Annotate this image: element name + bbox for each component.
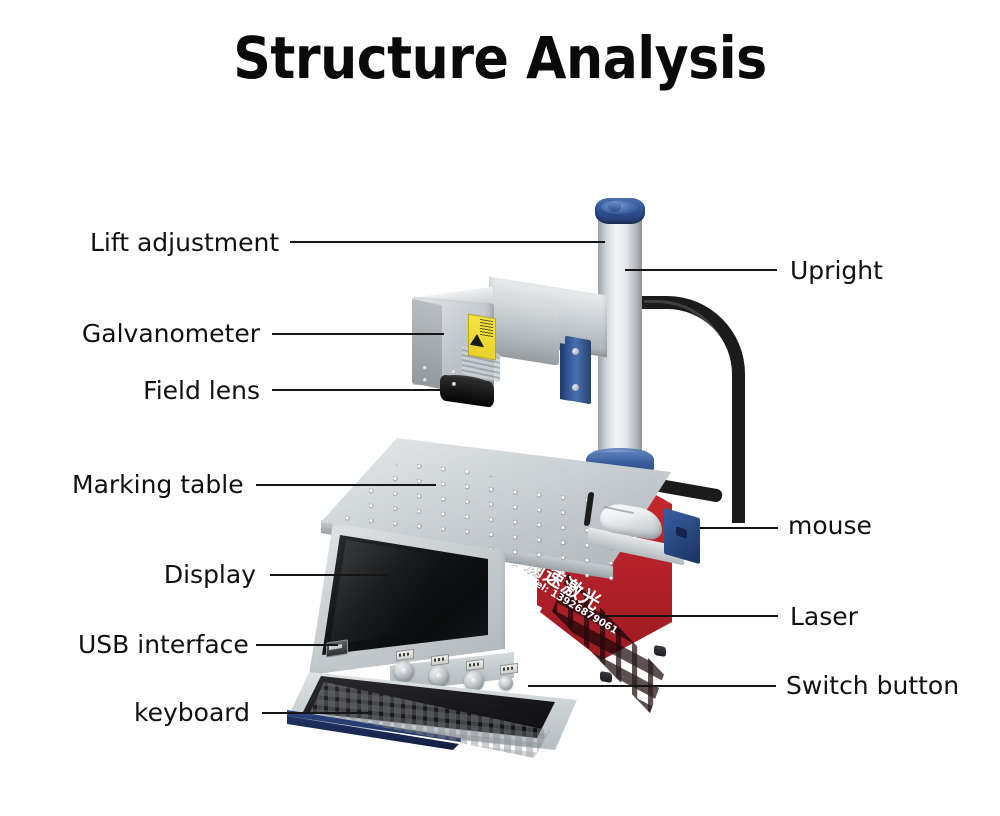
switch-button-small[interactable]	[499, 676, 513, 690]
hazard-triangle-icon	[470, 333, 484, 347]
callout-label-keyboard: keyboard	[128, 700, 250, 725]
galvo-screw	[423, 378, 427, 382]
bracket-bolt	[572, 384, 579, 391]
switch-button-center	[469, 676, 479, 686]
leader-line-mouse	[700, 527, 778, 529]
lift-adjustment-knob[interactable]	[608, 201, 621, 212]
galvo-screw	[452, 382, 456, 386]
callout-label-galvanometer: Galvanometer	[68, 321, 260, 346]
leader-line-lift-adjustment	[290, 241, 605, 243]
diagram-canvas: Structure Analysis	[0, 0, 1000, 816]
galvanometer-front-face	[412, 299, 442, 389]
switch-button-center	[399, 666, 409, 676]
callout-label-field-lens: Field lens	[122, 378, 260, 403]
leader-line-upright	[625, 269, 777, 271]
machine-foot	[600, 671, 612, 683]
bracket-bolt	[572, 348, 579, 355]
callout-label-switch-button: Switch button	[786, 673, 959, 698]
callout-label-upright: Upright	[790, 258, 883, 283]
callout-label-display: Display	[152, 562, 256, 587]
callout-label-usb-interface: USB interface	[78, 632, 244, 657]
machine-foot	[654, 645, 666, 657]
callout-label-mouse: mouse	[788, 513, 872, 538]
galvo-screw	[423, 366, 427, 370]
callout-label-laser: Laser	[790, 604, 858, 629]
leader-line-field-lens	[272, 389, 464, 391]
switch-label-tag	[500, 663, 518, 675]
leader-line-display	[270, 574, 388, 576]
leader-line-keyboard	[262, 712, 372, 714]
callout-label-lift-adjustment: Lift adjustment	[90, 230, 278, 255]
leader-line-switch-button	[528, 685, 776, 687]
leader-line-galvanometer	[272, 333, 444, 335]
leader-line-usb-interface	[256, 644, 338, 646]
leader-line-marking-table	[256, 484, 436, 486]
switch-button-center	[434, 671, 444, 681]
leader-line-laser	[600, 615, 778, 617]
lift-bracket	[565, 336, 591, 405]
galvo-screw	[452, 370, 456, 374]
callout-label-marking-table: Marking table	[72, 472, 242, 497]
